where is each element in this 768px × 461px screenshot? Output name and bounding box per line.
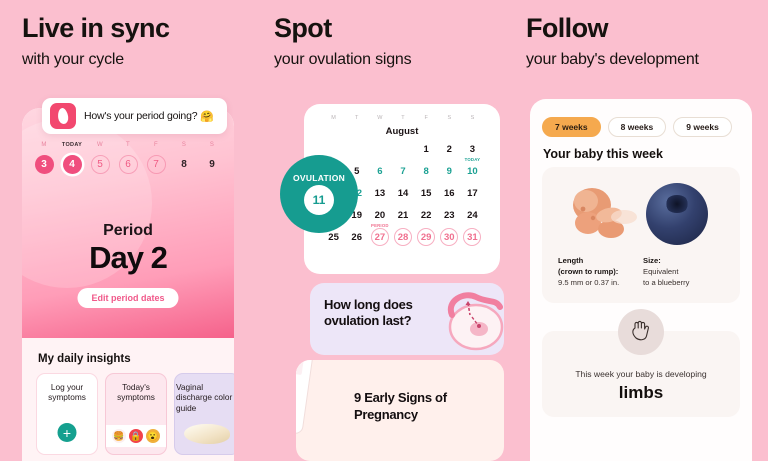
calendar-day-9[interactable]: 9 [438,163,461,179]
metric-key: Length [558,255,643,266]
calendar-day-number: 2 [447,144,452,155]
page-title: Live in sync [22,14,252,44]
panel-follow-baby: Follow your baby's development 7 weeks 8… [512,0,768,461]
calendar-day-number: 25 [328,232,339,243]
calendar-day-number: 1 [423,144,428,155]
calendar-day-number: 8 [423,166,428,177]
calendar-day-number: 17 [467,188,478,199]
calendar-day-28[interactable]: 28 [391,229,414,245]
calendar-day-30[interactable]: 30 [438,229,461,245]
discharge-illustration [184,424,230,444]
weekday-label: T [391,115,414,121]
day-label: T [126,142,130,150]
day-column[interactable]: T 6 [116,142,141,174]
day-number[interactable]: 6 [119,155,138,174]
calendar-day-number: 21 [398,210,409,221]
baby-info-card: Length (crown to rump): 9.5 mm or 0.37 i… [542,167,740,303]
uterus-illustration [430,283,504,355]
tab-8-weeks[interactable]: 8 weeks [608,117,667,137]
calendar-day-6[interactable]: 6 [368,163,391,179]
day-number[interactable]: 8 [175,155,194,174]
weekday-label: W [368,115,391,121]
today-marker: TODAY [461,157,484,162]
edit-period-dates-button[interactable]: Edit period dates [77,288,178,308]
calendar-day-number: 26 [351,232,362,243]
period-marker: PERIOD [368,223,391,228]
question-card-text: How long does ovulation last? [324,297,444,330]
day-number-today[interactable]: 4 [63,155,82,174]
calendar-day-number: 15 [421,188,432,199]
tab-9-weeks[interactable]: 9 weeks [673,117,732,137]
marketing-screenshot: Live in sync with your cycle M 3 TODAY 4… [0,0,768,461]
phone-mockup-pregnancy: 7 weeks 8 weeks 9 weeks Your baby this w… [530,99,752,461]
calendar-day-14[interactable]: 14 [391,185,414,201]
calendar-day-number: 10 [467,166,478,177]
calendar-day-10[interactable]: TODAY10 [461,163,484,179]
calendar-cell-empty [391,141,414,157]
panel3-heading: Follow your baby's development [526,14,756,69]
calendar-day-number: 7 [400,166,405,177]
development-word: limbs [542,383,740,403]
day-label: F [154,142,158,150]
calendar-day-number: 29 [421,232,432,243]
day-column[interactable]: S 9 [200,142,225,174]
calendar-day-number: 16 [444,188,455,199]
metric-value-line2: to a blueberry [643,277,728,288]
calendar-day-24[interactable]: 24 [461,207,484,223]
ovulation-day: 11 [304,185,334,215]
day-label: W [97,142,103,150]
section-title: Your baby this week [543,147,663,161]
insight-card-list: Log your symptoms + Today's symptoms 🍔 🔒… [36,373,234,455]
notification-text: How's your period going? [84,110,197,122]
day-column[interactable]: S 8 [172,142,197,174]
weekday-label: T [345,115,368,121]
calendar-day-number: 20 [375,210,386,221]
weekday-label: S [461,115,484,121]
calendar-day-26[interactable]: 26 [345,229,368,245]
face-emoji-icon: 😮 [146,429,160,443]
page-subtitle: your ovulation signs [274,50,504,69]
weekday-label: M [322,115,345,121]
calendar-day-31[interactable]: 31 [461,229,484,245]
calendar-day-1[interactable]: 1 [415,141,438,157]
calendar-day-number: 31 [467,232,478,243]
page-subtitle: your baby's development [526,50,756,69]
calendar-day-8[interactable]: 8 [415,163,438,179]
day-column[interactable]: TODAY 4 [60,142,85,174]
calendar-day-number: 14 [398,188,409,199]
calendar-day-2[interactable]: 2 [438,141,461,157]
calendar-day-3[interactable]: 3 [461,141,484,157]
tab-7-weeks[interactable]: 7 weeks [542,117,601,137]
day-number[interactable]: 5 [91,155,110,174]
insight-card-todays-symptoms[interactable]: Today's symptoms 🍔 🔒 😮 [105,373,167,455]
calendar-day-16[interactable]: 16 [438,185,461,201]
phone-mockup-cycle: M 3 TODAY 4 W 5 T 6 [22,108,234,461]
notification-banner[interactable]: How's your period going? 🤗 [42,98,227,134]
calendar-day-number: 24 [467,210,478,221]
article-card-text: 9 Early Signs of Pregnancy [354,390,494,424]
development-text: This week your baby is developing [542,369,740,379]
page-title: Follow [526,14,756,44]
day-column[interactable]: F 7 [144,142,169,174]
development-card: This week your baby is developing limbs [542,331,740,417]
ovulation-label: OVULATION [293,173,345,183]
calendar-day-22[interactable]: 22 [415,207,438,223]
day-column[interactable]: M 3 [32,142,57,174]
calendar-day-20[interactable]: 20 [368,207,391,223]
calendar-day-21[interactable]: 21 [391,207,414,223]
week-day-strip[interactable]: M 3 TODAY 4 W 5 T 6 [30,142,226,174]
period-label: Period [22,222,234,240]
calendar-day-number: 5 [354,166,359,177]
day-label: S [182,142,186,150]
emoji-row: 🍔 🔒 😮 [106,425,166,447]
daily-insights-title: My daily insights [38,353,131,365]
calendar-day-number: 6 [377,166,382,177]
calendar-day-number: 30 [444,232,455,243]
calendar-day-27[interactable]: PERIOD27 [368,229,391,245]
panel2-heading: Spot your ovulation signs [274,14,504,69]
calendar-weekday-header: M T W T F S S [322,115,484,121]
page-subtitle: with your cycle [22,50,252,69]
pregnancy-test-illustration [296,360,322,434]
panel-live-in-sync: Live in sync with your cycle M 3 TODAY 4… [0,0,256,461]
calendar-day-29[interactable]: 29 [415,229,438,245]
calendar-day-13[interactable]: 13 [368,185,391,201]
calendar-day-15[interactable]: 15 [415,185,438,201]
period-app-icon [50,103,76,129]
blueberry-illustration [646,183,708,245]
insight-card-label: Vaginal discharge color guide [174,374,234,413]
hug-emoji-icon: 🤗 [200,110,214,123]
metric-key: Size: [643,255,728,266]
page-title: Spot [274,14,504,44]
calendar-day-number: 28 [398,232,409,243]
calendar-month-label: August [304,126,500,137]
calendar-day-number: 13 [375,188,386,199]
cycle-hero-gradient: M 3 TODAY 4 W 5 T 6 [22,108,234,338]
panel-spot-ovulation: Spot your ovulation signs M T W T F S S … [256,0,512,461]
weekday-label: S [438,115,461,121]
insight-card-log-symptoms[interactable]: Log your symptoms + [36,373,98,455]
weekday-label: F [415,115,438,121]
hand-icon [618,309,664,355]
article-card[interactable]: 9 Early Signs of Pregnancy [296,360,504,461]
plus-icon[interactable]: + [58,423,77,442]
fetus-illustration [566,185,638,247]
calendar-day-number: 9 [447,166,452,177]
metric-value-line1: Equivalent [643,266,728,277]
calendar-day-17[interactable]: 17 [461,185,484,201]
calendar-day-number: 22 [421,210,432,221]
calendar-day-23[interactable]: 23 [438,207,461,223]
calendar-day-number: 27 [375,232,386,243]
symptom-emoji-icon: 🍔 [112,429,126,443]
metric-length: Length (crown to rump): 9.5 mm or 0.37 i… [558,255,643,288]
metric-size: Size: Equivalent to a blueberry [643,255,728,288]
day-number[interactable]: 9 [203,155,222,174]
insight-card-discharge-guide[interactable]: Vaginal discharge color guide [174,373,234,455]
day-label: M [41,142,46,150]
day-column[interactable]: W 5 [88,142,113,174]
day-label: S [210,142,214,150]
insight-card-label: Today's symptoms [106,374,166,403]
calendar-day-7[interactable]: 7 [391,163,414,179]
metric-key-sub: (crown to rump): [558,266,643,277]
baby-metrics: Length (crown to rump): 9.5 mm or 0.37 i… [558,255,728,288]
calendar-day-number: 23 [444,210,455,221]
question-card[interactable]: How long does ovulation last? [310,283,504,355]
calendar-day-number: 3 [470,144,475,155]
day-number[interactable]: 7 [147,155,166,174]
insight-card-label: Log your symptoms [37,374,97,403]
metric-value: 9.5 mm or 0.37 in. [558,277,643,288]
ovulation-badge[interactable]: OVULATION 11 [280,155,358,233]
calendar-cell-empty [368,141,391,157]
day-label-today: TODAY [62,142,82,150]
calendar-cell-empty [345,141,368,157]
lock-icon: 🔒 [129,429,143,443]
week-tab-list: 7 weeks 8 weeks 9 weeks [542,117,732,137]
period-day-count: Day 2 [22,240,234,276]
day-number[interactable]: 3 [35,155,54,174]
panel1-heading: Live in sync with your cycle [22,14,252,69]
